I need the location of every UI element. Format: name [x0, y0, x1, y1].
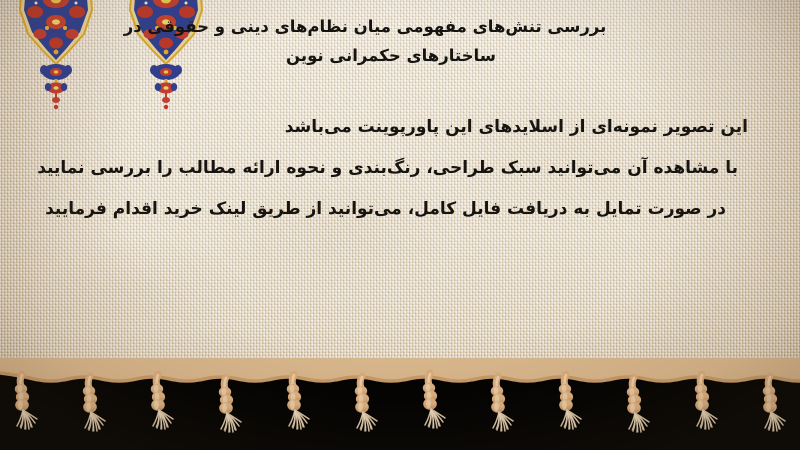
body-line-1: این تصویر نمونه‌ای از اسلایدهای این پاور…	[48, 107, 748, 148]
body-line-3: در صورت تمایل به دریافت فایل کامل، می‌تو…	[48, 189, 748, 230]
slide-body-text: این تصویر نمونه‌ای از اسلایدهای این پاور…	[48, 107, 748, 230]
body-line-2: با مشاهده آن می‌توانید سبک طراحی، رنگ‌بن…	[48, 148, 748, 189]
title-line-1: بررسی تنش‌های مفهومی میان نظام‌های دینی …	[0, 12, 800, 41]
presentation-slide: بررسی تنش‌های مفهومی میان نظام‌های دینی …	[0, 0, 800, 450]
slide-title: بررسی تنش‌های مفهومی میان نظام‌های دینی …	[0, 12, 800, 70]
black-backdrop-band	[0, 372, 800, 450]
title-line-2: ساختارهای حکمرانی نوین	[0, 41, 800, 70]
